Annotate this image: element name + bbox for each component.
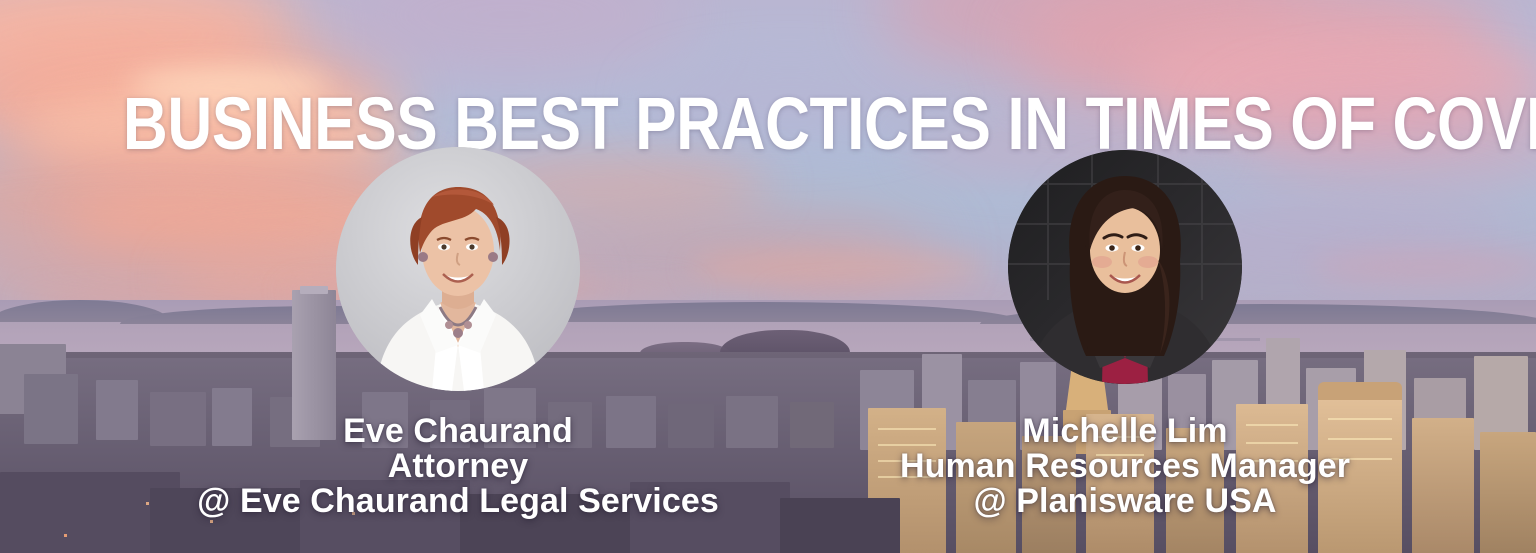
speaker-caption-michelle-lim: Michelle Lim Human Resources Manager @ P… (730, 414, 1520, 519)
speaker-affiliation: @ Eve Chaurand Legal Services (78, 484, 838, 519)
speaker-name: Michelle Lim (730, 414, 1520, 449)
speaker-role: Human Resources Manager (730, 449, 1520, 484)
speaker-affiliation: @ Planisware USA (730, 484, 1520, 519)
speaker-name: Eve Chaurand (78, 414, 838, 449)
speaker-avatar-michelle-lim (1008, 150, 1242, 384)
speaker-avatar-eve-chaurand (336, 147, 580, 391)
eve-chaurand-portrait (336, 147, 580, 391)
sunset-sky (0, 0, 1536, 330)
speaker-caption-eve-chaurand: Eve Chaurand Attorney @ Eve Chaurand Leg… (78, 414, 838, 519)
webinar-banner: BUSINESS BEST PRACTICES IN TIMES OF COVI… (0, 0, 1536, 553)
speaker-role: Attorney (78, 449, 838, 484)
michelle-lim-portrait (1008, 150, 1242, 384)
